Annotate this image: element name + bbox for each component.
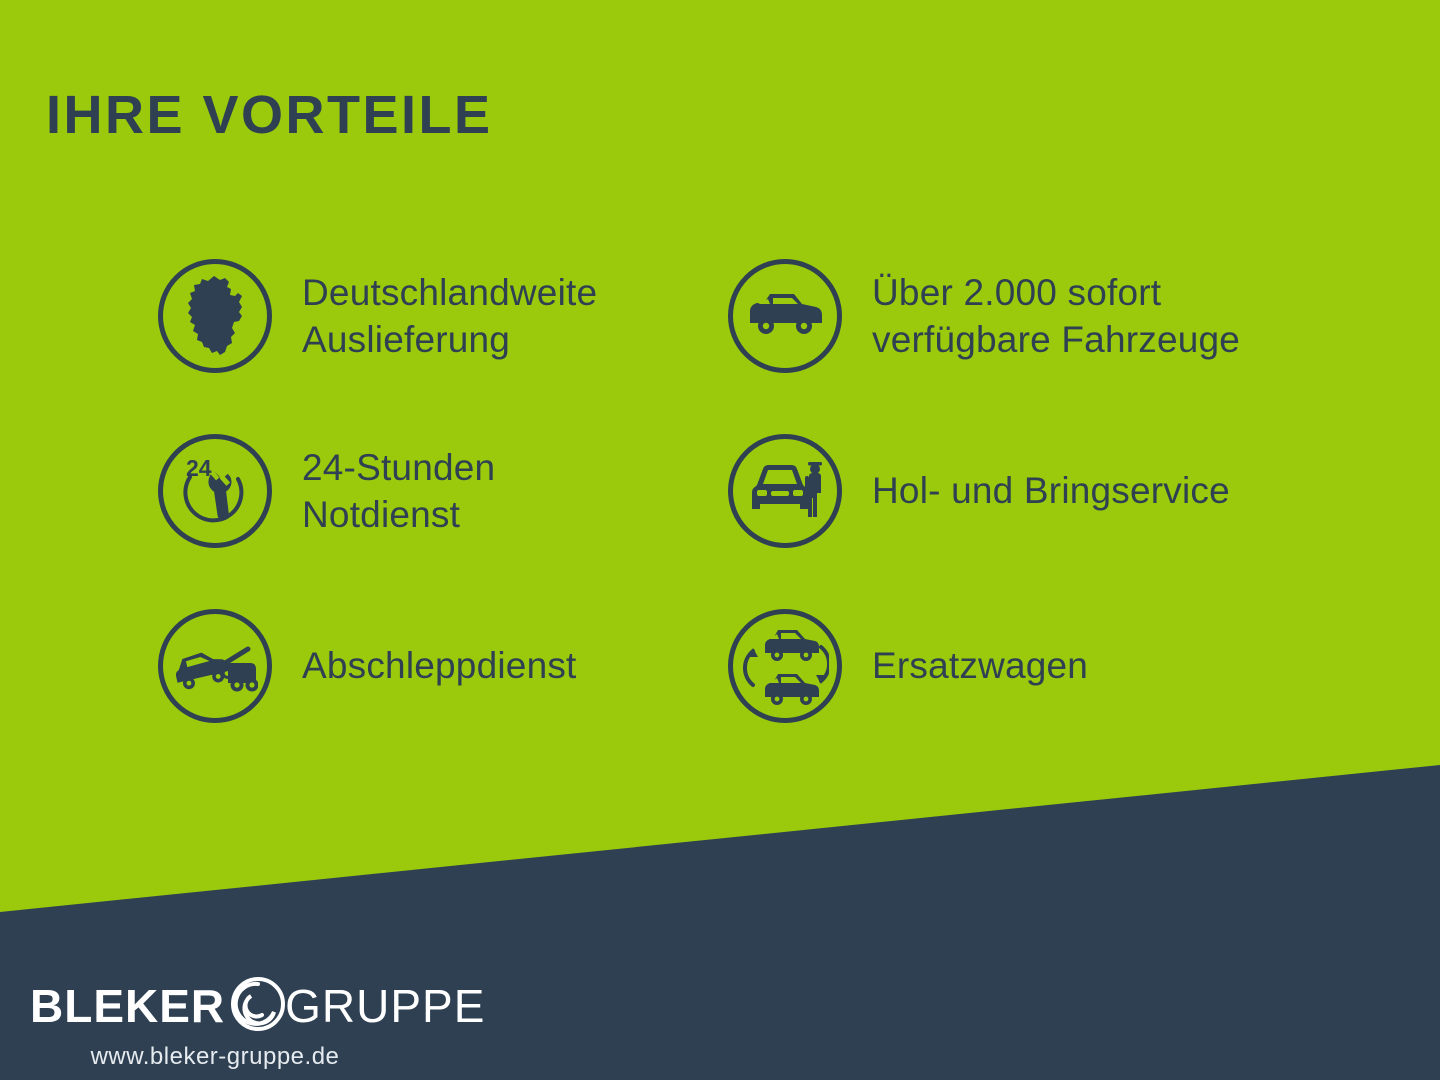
benefit-label: Abschleppdienst bbox=[302, 642, 577, 689]
germany-map-icon bbox=[158, 259, 272, 373]
page-title: IHRE VORTEILE bbox=[46, 88, 493, 142]
car-with-driver-icon bbox=[728, 434, 842, 548]
tow-truck-icon bbox=[158, 609, 272, 723]
benefit-item-24-stunden-notdienst: 24 24-StundenNotdienst bbox=[158, 403, 718, 578]
clock-24-wrench-icon: 24 bbox=[158, 434, 272, 548]
car-exchange-icon bbox=[728, 609, 842, 723]
logo-wordmark-row: BLEKER GRUPPE bbox=[30, 975, 485, 1037]
benefit-item-hol-und-bringservice: Hol- und Bringservice bbox=[728, 403, 1288, 578]
benefit-item-verfuegbare-fahrzeuge: Über 2.000 sofortverfügbare Fahrzeuge bbox=[728, 228, 1288, 403]
benefit-label: Über 2.000 sofortverfügbare Fahrzeuge bbox=[872, 269, 1240, 363]
benefit-label: Hol- und Bringservice bbox=[872, 467, 1230, 514]
car-side-icon bbox=[728, 259, 842, 373]
benefit-label: 24-StundenNotdienst bbox=[302, 444, 495, 538]
slide-root: IHRE VORTEILE DeutschlandweiteAuslieferu… bbox=[0, 0, 1440, 1080]
benefit-label: DeutschlandweiteAuslieferung bbox=[302, 269, 597, 363]
benefit-item-deutschlandweite-auslieferung: DeutschlandweiteAuslieferung bbox=[158, 228, 718, 403]
logo-text-bleker: BLEKER bbox=[30, 983, 225, 1029]
benefit-item-ersatzwagen: Ersatzwagen bbox=[728, 578, 1288, 753]
logo-text-gruppe: GRUPPE bbox=[285, 983, 485, 1029]
benefits-grid: DeutschlandweiteAuslieferung Über 2.000 … bbox=[158, 228, 1338, 753]
benefit-item-abschleppdienst: Abschleppdienst bbox=[158, 578, 718, 753]
spiral-circles-icon bbox=[229, 975, 287, 1038]
logo-website-url[interactable]: www.bleker-gruppe.de bbox=[30, 1043, 400, 1071]
benefit-label: Ersatzwagen bbox=[872, 642, 1088, 689]
company-logo[interactable]: BLEKER GRUPPE www.bleker-gruppe.de bbox=[30, 975, 485, 1071]
